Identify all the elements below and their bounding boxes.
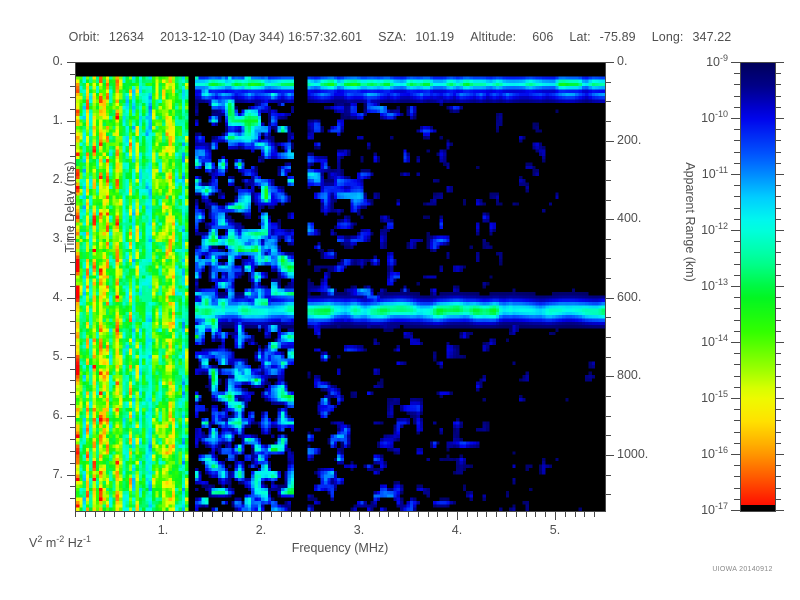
colorbar-minor-tick bbox=[775, 84, 781, 85]
colorbar-minor-tick bbox=[734, 488, 740, 489]
x-tick-label: 5. bbox=[515, 523, 595, 537]
colorbar-minor-tick bbox=[775, 208, 781, 209]
orbit-label: Orbit: bbox=[69, 30, 100, 44]
colorbar-minor-tick bbox=[775, 73, 781, 74]
axis-tick bbox=[496, 512, 497, 517]
colorbar-tick bbox=[731, 230, 740, 231]
colorbar-minor-tick bbox=[734, 331, 740, 332]
axis-tick bbox=[281, 512, 282, 517]
colorbar-minor-tick bbox=[775, 275, 781, 276]
axis-tick bbox=[70, 451, 75, 452]
colorbar-tick bbox=[775, 398, 784, 399]
axis-tick bbox=[70, 310, 75, 311]
colorbar-base: 10 bbox=[706, 55, 720, 69]
altitude-value: 606 bbox=[532, 30, 553, 44]
unit-meters: m bbox=[42, 536, 56, 550]
colorbar-underflow-black bbox=[741, 505, 775, 511]
colorbar-base: 10 bbox=[701, 503, 715, 517]
colorbar-tick bbox=[731, 62, 740, 63]
unit-hertz-exp: -1 bbox=[83, 534, 91, 544]
colorbar-tick bbox=[731, 454, 740, 455]
y-left-tick-label: 0. bbox=[3, 54, 63, 68]
colorbar-tick-label: 10-10 bbox=[662, 109, 728, 125]
y-left-tick-label: 2. bbox=[3, 172, 63, 186]
colorbar-tick bbox=[775, 454, 784, 455]
y-right-tick-label: 600. bbox=[617, 290, 641, 304]
axis-tick bbox=[606, 141, 614, 142]
axis-tick bbox=[606, 62, 614, 63]
axis-tick bbox=[606, 357, 611, 358]
colorbar-exponent: -14 bbox=[715, 333, 728, 343]
colorbar-minor-tick bbox=[775, 107, 781, 108]
axis-tick bbox=[222, 512, 223, 517]
colorbar-minor-tick bbox=[734, 219, 740, 220]
colorbar-exponent: -16 bbox=[715, 445, 728, 455]
colorbar-tick bbox=[775, 342, 784, 343]
axis-tick bbox=[349, 512, 350, 517]
axis-tick bbox=[606, 219, 614, 220]
colorbar-tick bbox=[731, 286, 740, 287]
colorbar-minor-tick bbox=[734, 163, 740, 164]
axis-tick bbox=[606, 121, 611, 122]
axis-tick bbox=[526, 512, 527, 517]
axis-tick bbox=[70, 439, 75, 440]
axis-tick bbox=[606, 317, 611, 318]
axis-tick bbox=[232, 512, 233, 517]
axis-tick bbox=[606, 337, 611, 338]
colorbar-minor-tick bbox=[775, 264, 781, 265]
colorbar-minor-tick bbox=[734, 140, 740, 141]
colorbar-tick bbox=[775, 62, 784, 63]
colorbar-minor-tick bbox=[734, 73, 740, 74]
colorbar-exponent: -17 bbox=[715, 501, 728, 511]
colorbar-base: 10 bbox=[701, 111, 715, 125]
colorbar-minor-tick bbox=[734, 264, 740, 265]
axis-tick bbox=[606, 278, 611, 279]
colorbar-tick bbox=[775, 286, 784, 287]
colorbar-minor-tick bbox=[775, 387, 781, 388]
axis-tick bbox=[261, 512, 262, 520]
axis-tick bbox=[67, 298, 75, 299]
colorbar-minor-tick bbox=[734, 387, 740, 388]
colorbar-gradient bbox=[741, 63, 775, 511]
colorbar-tick-label: 10-12 bbox=[662, 221, 728, 237]
axis-tick bbox=[251, 512, 252, 517]
axis-tick bbox=[70, 369, 75, 370]
colorbar-minor-tick bbox=[734, 208, 740, 209]
sza-label: SZA: bbox=[378, 30, 406, 44]
colorbar-minor-tick bbox=[775, 409, 781, 410]
colorbar-minor-tick bbox=[734, 96, 740, 97]
colorbar-tick-label: 10-16 bbox=[662, 445, 728, 461]
colorbar-minor-tick bbox=[734, 297, 740, 298]
axis-tick bbox=[95, 512, 96, 517]
colorbar-minor-tick bbox=[775, 185, 781, 186]
axis-tick bbox=[70, 486, 75, 487]
long-label: Long: bbox=[652, 30, 684, 44]
colorbar-minor-tick bbox=[775, 140, 781, 141]
colorbar-base: 10 bbox=[701, 223, 715, 237]
axis-tick bbox=[457, 512, 458, 520]
colorbar-tick-label: 10-14 bbox=[662, 333, 728, 349]
colorbar-tick-label: 10-13 bbox=[662, 277, 728, 293]
axis-tick bbox=[310, 512, 311, 517]
colorbar-minor-tick bbox=[734, 107, 740, 108]
axis-tick bbox=[67, 357, 75, 358]
axis-tick bbox=[67, 121, 75, 122]
colorbar-exponent: -13 bbox=[715, 277, 728, 287]
axis-tick bbox=[202, 512, 203, 517]
axis-tick bbox=[606, 475, 611, 476]
colorbar-minor-tick bbox=[775, 163, 781, 164]
colorbar-minor-tick bbox=[734, 241, 740, 242]
axis-tick bbox=[545, 512, 546, 517]
colorbar bbox=[740, 62, 776, 512]
axis-tick bbox=[565, 512, 566, 517]
axis-tick bbox=[418, 512, 419, 517]
colorbar-exponent: -9 bbox=[720, 53, 728, 63]
colorbar-minor-tick bbox=[734, 252, 740, 253]
colorbar-minor-tick bbox=[775, 129, 781, 130]
y-left-tick-label: 5. bbox=[3, 349, 63, 363]
colorbar-minor-tick bbox=[734, 320, 740, 321]
colorbar-tick bbox=[775, 230, 784, 231]
axis-tick bbox=[153, 512, 154, 517]
colorbar-exponent: -12 bbox=[715, 221, 728, 231]
axis-tick bbox=[67, 416, 75, 417]
axis-tick bbox=[606, 435, 611, 436]
y-left-tick-label: 7. bbox=[3, 467, 63, 481]
colorbar-tick bbox=[731, 510, 740, 511]
axis-tick bbox=[516, 512, 517, 517]
colorbar-base: 10 bbox=[701, 447, 715, 461]
axis-tick bbox=[606, 160, 611, 161]
axis-tick bbox=[408, 512, 409, 517]
axis-tick bbox=[606, 396, 611, 397]
colorbar-minor-tick bbox=[775, 331, 781, 332]
colorbar-minor-tick bbox=[734, 185, 740, 186]
axis-tick bbox=[70, 345, 75, 346]
axis-tick bbox=[606, 416, 611, 417]
axis-tick bbox=[70, 97, 75, 98]
axis-tick bbox=[124, 512, 125, 517]
colorbar-minor-tick bbox=[775, 432, 781, 433]
axis-tick bbox=[606, 455, 614, 456]
y-right-tick-label: 1000. bbox=[617, 447, 648, 461]
colorbar-tick-label: 10-15 bbox=[662, 389, 728, 405]
colorbar-tick bbox=[775, 174, 784, 175]
colorbar-minor-tick bbox=[775, 252, 781, 253]
y-left-tick-label: 3. bbox=[3, 231, 63, 245]
axis-tick bbox=[70, 109, 75, 110]
x-tick-label: 3. bbox=[319, 523, 399, 537]
long-value: 347.22 bbox=[693, 30, 732, 44]
axis-tick bbox=[70, 404, 75, 405]
axis-tick bbox=[575, 512, 576, 517]
axis-tick bbox=[70, 427, 75, 428]
axis-tick bbox=[70, 463, 75, 464]
colorbar-exponent: -15 bbox=[715, 389, 728, 399]
axis-tick bbox=[70, 74, 75, 75]
axis-tick bbox=[242, 512, 243, 517]
y-right-tick-label: 0. bbox=[617, 54, 627, 68]
axis-tick bbox=[70, 498, 75, 499]
colorbar-minor-tick bbox=[775, 320, 781, 321]
axis-tick bbox=[70, 333, 75, 334]
colorbar-tick bbox=[731, 174, 740, 175]
colorbar-minor-tick bbox=[775, 488, 781, 489]
x-tick-label: 4. bbox=[417, 523, 497, 537]
axis-tick bbox=[359, 512, 360, 520]
axis-tick bbox=[555, 512, 556, 520]
colorbar-tick bbox=[731, 398, 740, 399]
colorbar-minor-tick bbox=[775, 499, 781, 500]
axis-tick bbox=[379, 512, 380, 517]
colorbar-minor-tick bbox=[775, 364, 781, 365]
y-right-tick-label: 200. bbox=[617, 133, 641, 147]
colorbar-minor-tick bbox=[734, 196, 740, 197]
date-time-value: 2013-12-10 (Day 344) 16:57:32.601 bbox=[160, 30, 362, 44]
colorbar-minor-tick bbox=[775, 96, 781, 97]
lat-label: Lat: bbox=[569, 30, 590, 44]
x-tick-label: 2. bbox=[221, 523, 301, 537]
colorbar-minor-tick bbox=[775, 196, 781, 197]
axis-tick bbox=[320, 512, 321, 517]
axis-tick bbox=[271, 512, 272, 517]
axis-tick bbox=[477, 512, 478, 517]
colorbar-minor-tick bbox=[734, 84, 740, 85]
colorbar-minor-tick bbox=[734, 476, 740, 477]
axis-tick bbox=[606, 376, 614, 377]
y-left-tick-label: 1. bbox=[3, 113, 63, 127]
lat-value: -75.89 bbox=[600, 30, 636, 44]
axis-tick bbox=[447, 512, 448, 517]
axis-tick bbox=[388, 512, 389, 517]
x-axis-title: Frequency (MHz) bbox=[75, 541, 605, 555]
axis-tick bbox=[70, 321, 75, 322]
colorbar-minor-tick bbox=[734, 308, 740, 309]
axis-tick bbox=[114, 512, 115, 517]
colorbar-exponent: -10 bbox=[715, 109, 728, 119]
axis-tick bbox=[193, 512, 194, 517]
colorbar-minor-tick bbox=[734, 420, 740, 421]
axis-tick bbox=[398, 512, 399, 517]
colorbar-minor-tick bbox=[775, 152, 781, 153]
credit-text: UIOWA 20140912 bbox=[690, 566, 795, 573]
axis-tick bbox=[183, 512, 184, 517]
axis-tick bbox=[606, 101, 611, 102]
axis-tick bbox=[369, 512, 370, 517]
colorbar-minor-tick bbox=[734, 376, 740, 377]
colorbar-minor-tick bbox=[734, 409, 740, 410]
colorbar-minor-tick bbox=[734, 465, 740, 466]
axis-tick bbox=[163, 512, 164, 520]
colorbar-minor-tick bbox=[734, 275, 740, 276]
y-left-tick-label: 6. bbox=[3, 408, 63, 422]
axis-tick bbox=[75, 512, 76, 517]
axis-tick bbox=[330, 512, 331, 517]
colorbar-tick-label: 10-9 bbox=[662, 53, 728, 69]
axis-tick bbox=[70, 392, 75, 393]
axis-tick bbox=[134, 512, 135, 517]
axis-tick bbox=[291, 512, 292, 517]
colorbar-minor-tick bbox=[775, 219, 781, 220]
spectrogram-heatmap bbox=[76, 63, 605, 511]
colorbar-minor-tick bbox=[775, 420, 781, 421]
colorbar-minor-tick bbox=[775, 465, 781, 466]
colorbar-minor-tick bbox=[734, 364, 740, 365]
axis-tick bbox=[535, 512, 536, 517]
colorbar-minor-tick bbox=[775, 297, 781, 298]
axis-tick bbox=[606, 180, 611, 181]
colorbar-minor-tick bbox=[734, 152, 740, 153]
axis-tick bbox=[594, 512, 595, 517]
colorbar-units-label: V2 m-2 Hz-1 bbox=[0, 534, 120, 550]
sza-value: 101.19 bbox=[415, 30, 454, 44]
colorbar-tick-label: 10-17 bbox=[662, 501, 728, 517]
axis-tick bbox=[606, 200, 611, 201]
axis-tick bbox=[606, 494, 611, 495]
axis-tick bbox=[584, 512, 585, 517]
axis-tick bbox=[104, 512, 105, 517]
colorbar-minor-tick bbox=[775, 308, 781, 309]
axis-tick bbox=[606, 239, 611, 240]
axis-tick bbox=[70, 380, 75, 381]
colorbar-base: 10 bbox=[701, 279, 715, 293]
axis-tick bbox=[212, 512, 213, 517]
axis-tick bbox=[144, 512, 145, 517]
axis-tick bbox=[606, 258, 611, 259]
colorbar-minor-tick bbox=[775, 353, 781, 354]
axis-tick bbox=[340, 512, 341, 517]
y-axis-left-title: Time Delay (ms) bbox=[63, 127, 77, 287]
altitude-label: Altitude: bbox=[470, 30, 516, 44]
orbit-value: 12634 bbox=[109, 30, 144, 44]
colorbar-minor-tick bbox=[775, 476, 781, 477]
axis-tick bbox=[67, 475, 75, 476]
axis-tick bbox=[467, 512, 468, 517]
colorbar-tick bbox=[731, 118, 740, 119]
colorbar-minor-tick bbox=[775, 241, 781, 242]
colorbar-base: 10 bbox=[701, 391, 715, 405]
colorbar-tick bbox=[731, 342, 740, 343]
axis-tick bbox=[67, 62, 75, 63]
x-tick-label: 1. bbox=[123, 523, 203, 537]
colorbar-minor-tick bbox=[775, 376, 781, 377]
colorbar-tick bbox=[775, 510, 784, 511]
radargram-plot-area bbox=[75, 62, 606, 512]
header-info-line: Orbit: 12634 2013-12-10 (Day 344) 16:57:… bbox=[0, 30, 800, 44]
colorbar-minor-tick bbox=[734, 443, 740, 444]
colorbar-exponent: -11 bbox=[716, 165, 728, 175]
axis-tick bbox=[173, 512, 174, 517]
axis-tick bbox=[506, 512, 507, 517]
axis-tick bbox=[606, 82, 611, 83]
axis-tick bbox=[300, 512, 301, 517]
y-right-tick-label: 400. bbox=[617, 211, 641, 225]
y-left-tick-label: 4. bbox=[3, 290, 63, 304]
colorbar-minor-tick bbox=[734, 353, 740, 354]
y-right-tick-label: 800. bbox=[617, 368, 641, 382]
axis-tick bbox=[70, 86, 75, 87]
colorbar-minor-tick bbox=[734, 499, 740, 500]
axis-tick bbox=[606, 298, 614, 299]
axis-tick bbox=[437, 512, 438, 517]
colorbar-minor-tick bbox=[734, 432, 740, 433]
colorbar-tick bbox=[775, 118, 784, 119]
unit-hertz: Hz bbox=[64, 536, 83, 550]
axis-tick bbox=[486, 512, 487, 517]
colorbar-base: 10 bbox=[701, 335, 715, 349]
colorbar-base: 10 bbox=[702, 167, 716, 181]
colorbar-minor-tick bbox=[775, 443, 781, 444]
colorbar-minor-tick bbox=[734, 129, 740, 130]
axis-tick bbox=[428, 512, 429, 517]
colorbar-tick-label: 10-11 bbox=[662, 165, 728, 181]
axis-tick bbox=[85, 512, 86, 517]
